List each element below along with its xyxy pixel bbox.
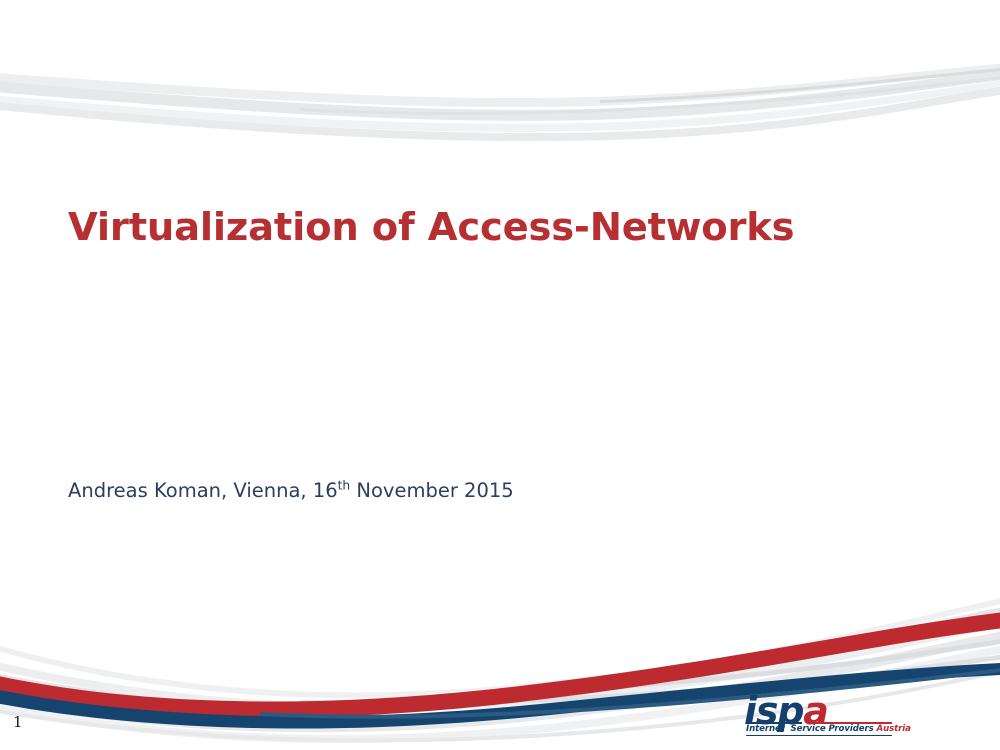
- top-wave-hairline-1: [300, 74, 1000, 115]
- ispa-tagline-austria: Austria: [877, 724, 911, 734]
- ispa-underline: [746, 735, 892, 736]
- top-wave-stripe-1: [0, 62, 1000, 107]
- top-wave-group: [0, 62, 1000, 141]
- slide-subtitle: Andreas Koman, Vienna, 16th November 201…: [68, 478, 514, 503]
- slide-canvas: Virtualization of Access-Networks Andrea…: [0, 0, 1000, 750]
- bottom-wave-gray-hairline-2: [300, 652, 1000, 706]
- ispa-tagline-service-providers: Service Providers: [791, 724, 874, 734]
- subtitle-ordinal-suffix: th: [338, 479, 351, 493]
- page-number: 1: [13, 713, 23, 731]
- top-wave-stripe-2: [0, 68, 1000, 121]
- top-wave-decoration: [0, 0, 1000, 750]
- subtitle-month-year: November 2015: [350, 479, 513, 502]
- top-wave-hairline-2: [600, 66, 1000, 103]
- ispa-logo: ispa Internet Service Providers Austria: [744, 692, 894, 738]
- page-title: Virtualization of Access-Networks: [68, 206, 928, 250]
- bottom-wave-gray-5: [0, 594, 1000, 698]
- top-wave-stripe-3: [0, 78, 1000, 132]
- top-wave-stripe-4: [0, 84, 1000, 141]
- ispa-tagline: Internet Service Providers Austria: [746, 724, 911, 734]
- bottom-wave-gray-hairline-3: [520, 636, 1000, 695]
- ispa-tagline-internet: Internet: [746, 724, 785, 734]
- bottom-wave-decoration: [0, 0, 1000, 750]
- subtitle-author-place-day: Andreas Koman, Vienna, 16: [68, 479, 338, 502]
